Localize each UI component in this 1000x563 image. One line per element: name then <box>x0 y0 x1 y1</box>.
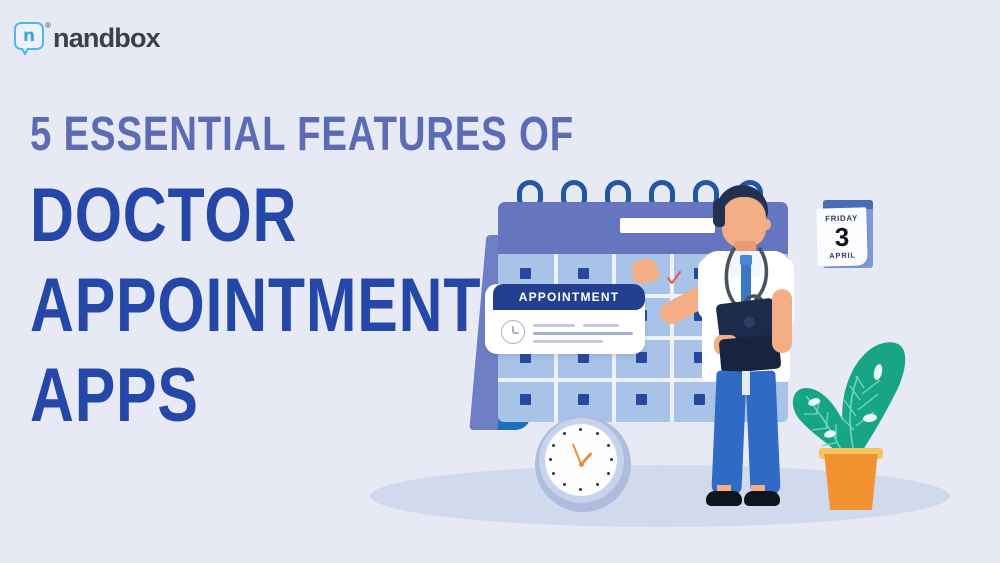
appointment-card-header: APPOINTMENT <box>493 284 645 310</box>
wall-clock <box>535 416 631 512</box>
headline-line-3: Appointment <box>30 264 406 348</box>
desk-calendar-day: 3 <box>834 224 849 250</box>
registered-trademark-icon: ® <box>45 21 51 30</box>
headline-line-4: Apps <box>30 354 406 438</box>
desk-calendar-month: APRIL <box>829 251 856 261</box>
clock-center-pin <box>579 462 584 467</box>
appointment-card-title: APPOINTMENT <box>519 290 620 304</box>
doctor-pants-gap <box>742 371 750 395</box>
doctor-shoe-right <box>744 491 780 506</box>
doctor-face <box>722 197 766 247</box>
nandbox-bubble-icon: n ® <box>14 22 48 54</box>
desk-calendar: FRIDAY 3 APRIL <box>815 198 875 270</box>
poster-canvas: n ® nandbox 5 Essential Features Of Doct… <box>0 0 1000 563</box>
plant-pot <box>822 454 880 510</box>
doctor-leg-right <box>745 370 780 495</box>
clock-face <box>545 424 617 496</box>
clock-outline-icon <box>501 320 525 344</box>
doctor-pants <box>710 371 782 497</box>
brand-name: nandbox <box>53 23 160 54</box>
doctor-shoe-left <box>706 491 742 506</box>
potted-plant <box>778 330 918 505</box>
appointment-card[interactable]: APPOINTMENT <box>485 284 645 354</box>
logo-letter: n <box>14 22 44 50</box>
headline-line-1: 5 Essential Features Of <box>30 110 406 160</box>
doctor-hair-side <box>713 199 725 227</box>
headline-line-2: Doctor <box>30 174 406 258</box>
hero-illustration: APPOINTMENT FRIDAY 3 APRIL <box>360 150 980 550</box>
brand-logo[interactable]: n ® nandbox <box>14 22 160 54</box>
doctor-ear <box>763 219 771 230</box>
speech-bubble-tail <box>21 49 29 56</box>
desk-calendar-page: FRIDAY 3 APRIL <box>816 207 868 266</box>
